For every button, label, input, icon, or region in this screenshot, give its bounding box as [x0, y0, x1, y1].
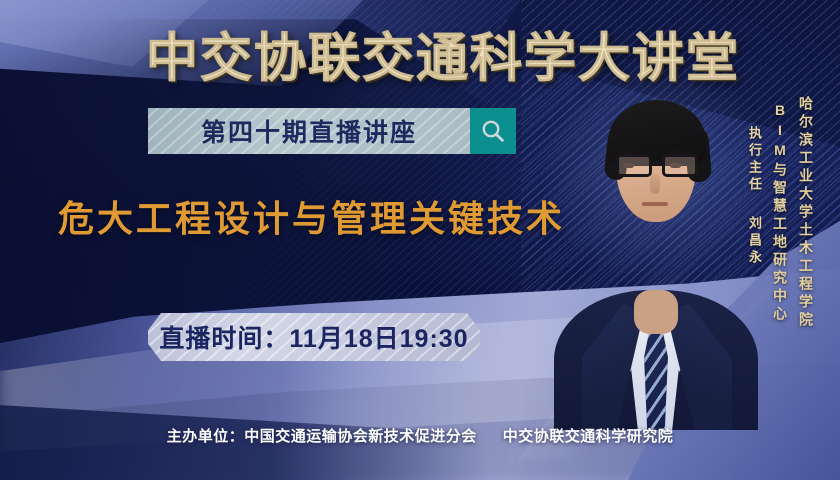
broadcast-time-text: 直播时间：11月18日19:30	[159, 319, 468, 355]
episode-banner-body: 第四十期直播讲座	[148, 108, 470, 154]
portrait-mouth	[642, 202, 668, 206]
glasses-lens-left	[616, 154, 652, 177]
speaker-name: 刘昌永	[745, 216, 764, 267]
speaker-name-block: 执行主任 刘昌永	[745, 96, 764, 267]
search-icon[interactable]	[470, 108, 516, 154]
footer-organizer-1: 中国交通运输协会新技术促进分会	[244, 428, 477, 445]
broadcast-time-badge: 直播时间：11月18日19:30	[148, 313, 480, 361]
episode-label: 第四十期直播讲座	[201, 113, 417, 149]
speaker-affiliation-center: BIM与智慧工地研究中心	[770, 102, 790, 324]
footer-organizers: 主办单位：中国交通运输协会新技术促进分会中交协联交通科学研究院	[0, 425, 840, 446]
footer-organizer-2: 中交协联交通科学研究院	[503, 428, 674, 445]
glasses-lens-right	[662, 154, 698, 177]
page-title: 中交协联交通科学大讲堂	[146, 16, 740, 91]
portrait-neck	[634, 290, 678, 334]
speaker-affiliation-school: 哈尔滨工业大学土木工程学院	[796, 96, 816, 330]
glasses-bridge	[652, 162, 662, 165]
footer-prefix: 主办单位：	[167, 428, 245, 445]
speaker-portrait	[560, 70, 750, 430]
glasses-arm-right	[696, 164, 705, 167]
lecture-title: 危大工程设计与管理关键技术	[58, 190, 565, 242]
speaker-credits: 执行主任 刘昌永 BIM与智慧工地研究中心 哈尔滨工业大学土木工程学院	[745, 96, 816, 330]
episode-banner: 第四十期直播讲座	[148, 108, 516, 154]
glasses-arm-left	[610, 164, 618, 167]
speaker-role: 执行主任	[745, 126, 764, 194]
livestream-poster: 中交协联交通科学大讲堂 第四十期直播讲座 危大工程设计与管理关键技术 直播时间：…	[0, 0, 840, 480]
portrait-glasses-icon	[612, 154, 702, 178]
